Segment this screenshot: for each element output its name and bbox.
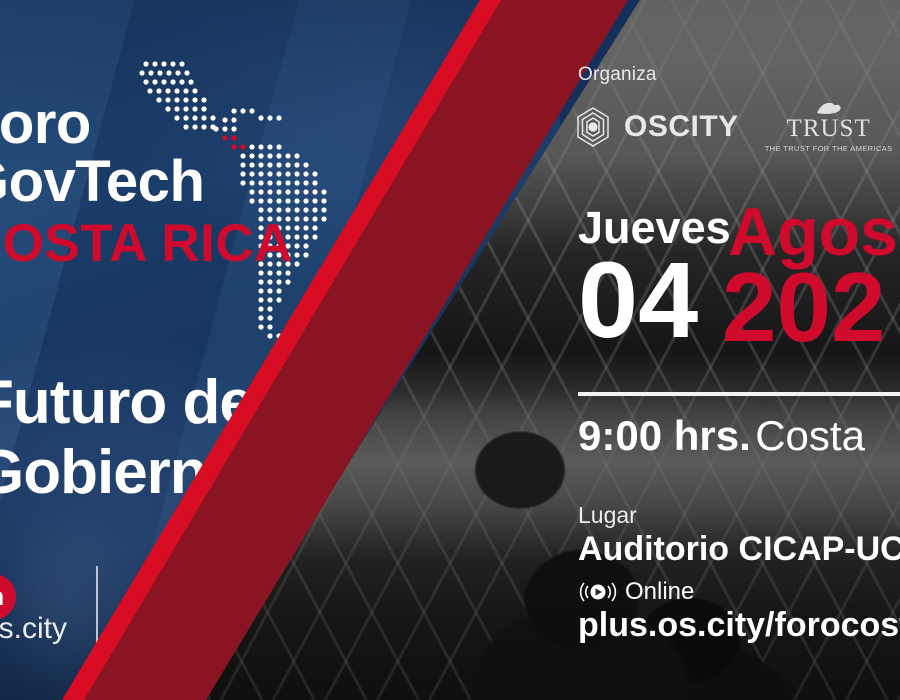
brand-logo: Foro GovTech COSTA RICA xyxy=(0,96,384,270)
time-timezone: Costa xyxy=(755,412,865,459)
trust-americas-globe-icon xyxy=(811,100,847,116)
brand-line-govtech: GovTech xyxy=(0,154,384,210)
event-url[interactable]: plus.os.city/forocosta xyxy=(578,606,900,645)
venue-label: Lugar xyxy=(578,502,637,529)
organizer-trust: TRUST THE TRUST FOR THE AMERICAS xyxy=(765,100,893,153)
oscity-wordmark: OSCITY xyxy=(624,110,739,144)
trust-tagline: THE TRUST FOR THE AMERICAS xyxy=(765,144,893,153)
trust-wordmark: TRUST xyxy=(787,116,871,141)
oscity-hexagon-logo-icon xyxy=(572,106,614,148)
date-year: 202 xyxy=(722,258,886,356)
organizer-logos: OSCITY TRUST THE TRUST FOR THE AMERICAS … xyxy=(572,100,900,153)
event-poster: Foro GovTech COSTA RICA Futuro del Gobie… xyxy=(0,0,900,700)
time-value: 9:00 hrs. xyxy=(578,412,751,459)
broadcast-signal-icon xyxy=(578,580,618,604)
event-time: 9:00 hrs. Costa xyxy=(578,412,865,460)
online-row: Online xyxy=(578,578,694,606)
venue-name: Auditorio CICAP-UCR xyxy=(578,530,900,569)
section-divider-rule xyxy=(578,392,900,396)
online-label: Online xyxy=(625,578,694,606)
organizer-oscity: OSCITY xyxy=(572,106,739,148)
social-handle[interactable]: os.city xyxy=(0,612,67,646)
brand-line-foro: Foro xyxy=(0,96,384,152)
organizers-label: Organiza xyxy=(578,64,657,86)
